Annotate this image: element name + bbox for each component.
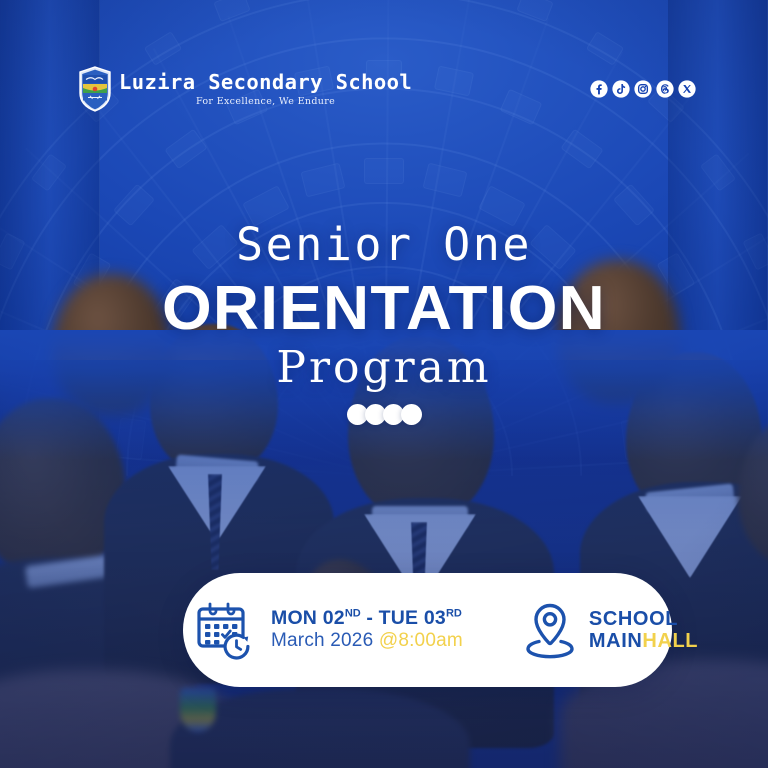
event-date-item: MON 02ND - TUE 03RD March 2026 @8:00am — [195, 599, 463, 661]
social-links — [590, 80, 696, 98]
school-tagline: For Excellence, We Endure — [196, 97, 335, 107]
instagram-icon[interactable] — [634, 80, 652, 98]
title-line-orientation: ORIENTATION — [0, 278, 768, 340]
tiktok-icon[interactable] — [612, 80, 630, 98]
orientation-poster: Luzira Secondary School For Excellence, … — [0, 0, 768, 768]
dome-coffer-panel — [364, 158, 404, 184]
location-hall: HALL — [642, 630, 698, 652]
brand-text: Luzira Secondary School For Excellence, … — [119, 72, 412, 107]
school-name: Luzira Secondary School — [119, 72, 412, 93]
date-separator: - — [361, 607, 379, 629]
title-block: Senior One ORIENTATION Program — [0, 222, 768, 425]
decorative-dots — [0, 404, 768, 425]
event-date-text: MON 02ND - TUE 03RD March 2026 @8:00am — [271, 608, 463, 652]
title-line-program: Program — [0, 346, 768, 390]
calendar-clock-icon — [195, 599, 257, 661]
title-line-senior-one: Senior One — [0, 222, 768, 267]
date-start-ordinal: ND — [345, 608, 361, 620]
date-end: TUE 03 — [379, 607, 446, 629]
location-main: MAIN — [589, 630, 643, 652]
facebook-icon[interactable] — [590, 80, 608, 98]
event-time: @8:00am — [379, 630, 463, 651]
event-month-time: March 2026 @8:00am — [271, 631, 463, 652]
decorative-dot — [401, 404, 422, 425]
date-start: MON 02 — [271, 607, 345, 629]
location-line-1: SCHOOL — [589, 609, 698, 629]
event-location-item: SCHOOL MAINHALL — [523, 601, 698, 659]
map-pin-icon — [523, 601, 577, 659]
brand-lockup: Luzira Secondary School For Excellence, … — [78, 66, 412, 112]
location-line-2: MAINHALL — [589, 631, 698, 651]
event-month-year: March 2026 — [271, 630, 379, 651]
event-info-card: MON 02ND - TUE 03RD March 2026 @8:00am S… — [183, 573, 672, 687]
school-crest-icon — [78, 66, 112, 112]
threads-icon[interactable] — [656, 80, 674, 98]
event-date-days: MON 02ND - TUE 03RD — [271, 608, 463, 629]
date-end-ordinal: RD — [446, 608, 462, 620]
x-icon[interactable] — [678, 80, 696, 98]
event-location-text: SCHOOL MAINHALL — [589, 609, 698, 651]
poster-header: Luzira Secondary School For Excellence, … — [0, 58, 768, 120]
